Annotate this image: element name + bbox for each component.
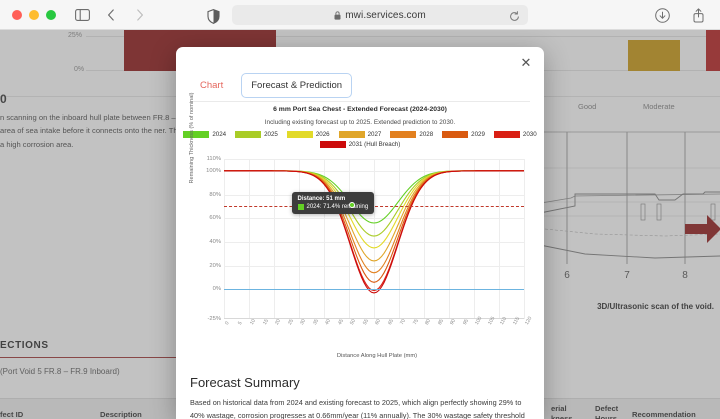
address-bar-url: mwi.services.com	[345, 10, 426, 21]
screenshot-root: mwi.services.com 25% 0% Good Moderate	[0, 0, 720, 419]
forecast-plot: Remaining Thickness (% of nominal)	[190, 157, 530, 372]
minimize-window-button[interactable]	[29, 10, 39, 20]
tabs-divider	[190, 101, 530, 102]
legend-item-2026[interactable]: 2026	[287, 131, 330, 138]
legend-swatch-2030	[494, 131, 520, 138]
forward-arrow-icon[interactable]	[132, 7, 148, 23]
legend-label-2031: 2031 (Hull Breach)	[349, 141, 401, 148]
x-axis-label: Distance Along Hull Plate (mm)	[224, 353, 530, 359]
legend-item-2025[interactable]: 2025	[235, 131, 278, 138]
legend-item-2028[interactable]: 2028	[390, 131, 433, 138]
legend-label-2026: 2026	[316, 131, 330, 138]
legend-item-2029[interactable]: 2029	[442, 131, 485, 138]
close-icon[interactable]: ✕	[518, 55, 534, 71]
forecast-summary: Forecast Summary Based on historical dat…	[190, 375, 530, 419]
tooltip-series-label: 2024: 71.4% remaining	[307, 204, 369, 210]
x-tick-55: 55	[362, 318, 370, 326]
x-tick-95: 95	[462, 318, 470, 326]
legend-swatch-2029	[442, 131, 468, 138]
legend-label-2027: 2027	[368, 131, 382, 138]
curve-2029	[224, 171, 524, 282]
y-tick-80: 80%	[209, 192, 221, 198]
address-bar[interactable]: mwi.services.com	[232, 5, 528, 25]
legend-label-2029: 2029	[471, 131, 485, 138]
maximize-window-button[interactable]	[46, 10, 56, 20]
hover-data-point	[349, 202, 355, 208]
legend-item-2027[interactable]: 2027	[339, 131, 382, 138]
back-arrow-icon[interactable]	[103, 7, 119, 23]
sidebar-toggle-icon[interactable]	[74, 7, 90, 23]
legend-label-2028: 2028	[419, 131, 433, 138]
y-tick-0: 0%	[213, 286, 221, 292]
plot-area[interactable]: Distance: 51 mm 2024: 71.4% remaining 05…	[224, 159, 524, 319]
x-tick-5: 5	[237, 321, 244, 326]
x-tick-0: 0	[224, 321, 231, 326]
legend-swatch-2025	[235, 131, 261, 138]
forecast-summary-body: Based on historical data from 2024 and e…	[190, 396, 530, 419]
curve-2028	[224, 171, 524, 273]
legend-label-2030: 2030	[523, 131, 537, 138]
y-tick-100: 100%	[206, 168, 221, 174]
legend-swatch-2028	[390, 131, 416, 138]
legend-label-2024: 2024	[212, 131, 226, 138]
forecast-modal: ✕ Chart Forecast & Prediction 6 mm Port …	[176, 47, 544, 419]
close-window-button[interactable]	[12, 10, 22, 20]
x-tick-90: 90	[449, 318, 457, 326]
x-tick-25: 25	[287, 318, 295, 326]
legend-item-2030[interactable]: 2030	[494, 131, 537, 138]
legend-swatch-2024	[183, 131, 209, 138]
y-tick--25: -25%	[207, 316, 221, 322]
zero-thickness-line	[224, 289, 524, 290]
privacy-shield-icon[interactable]	[205, 8, 221, 24]
chart-legend: 2024 2025 2026 2027 2028 2029 2030 2031 …	[176, 131, 544, 148]
x-tick-45: 45	[337, 318, 345, 326]
y-tick-110: 110%	[207, 156, 221, 162]
lock-icon	[334, 11, 341, 20]
legend-swatch-2031	[320, 141, 346, 148]
window-controls[interactable]	[12, 10, 56, 20]
x-tick-35: 35	[312, 318, 320, 326]
y-tick-60: 60%	[209, 215, 221, 221]
y-tick-40: 40%	[209, 239, 221, 245]
chart-title: 6 mm Port Sea Chest - Extended Forecast …	[176, 106, 544, 113]
x-tick-50: 50	[349, 318, 357, 326]
legend-row-primary: 2024 2025 2026 2027 2028 2029 2030	[176, 131, 544, 138]
x-tick-75: 75	[412, 318, 420, 326]
legend-label-2025: 2025	[264, 131, 278, 138]
x-tick-20: 20	[274, 318, 282, 326]
browser-toolbar: mwi.services.com	[0, 0, 720, 30]
tab-chart[interactable]: Chart	[190, 73, 233, 98]
tab-forecast-prediction[interactable]: Forecast & Prediction	[241, 73, 352, 98]
chart-tooltip: Distance: 51 mm 2024: 71.4% remaining	[292, 192, 375, 214]
chart-subtitle: Including existing forecast up to 2025. …	[176, 119, 544, 126]
x-tick-80: 80	[424, 318, 432, 326]
share-icon[interactable]	[690, 7, 706, 23]
tooltip-swatch	[298, 204, 304, 210]
x-tick-40: 40	[324, 318, 332, 326]
x-tick-60: 60	[374, 318, 382, 326]
x-tick-30: 30	[299, 318, 307, 326]
gridline-v-12	[524, 159, 525, 319]
download-icon[interactable]	[654, 7, 670, 23]
legend-item-2031[interactable]: 2031 (Hull Breach)	[320, 141, 401, 148]
x-tick-120: 120	[524, 316, 533, 326]
forecast-curves	[224, 159, 524, 319]
legend-swatch-2027	[339, 131, 365, 138]
x-tick-15: 15	[262, 318, 270, 326]
tooltip-series-row: 2024: 71.4% remaining	[298, 204, 369, 210]
x-tick-10: 10	[249, 318, 257, 326]
x-tick-70: 70	[399, 318, 407, 326]
legend-swatch-2026	[287, 131, 313, 138]
modal-tabs: Chart Forecast & Prediction	[190, 73, 352, 98]
y-tick-20: 20%	[209, 263, 221, 269]
tooltip-title: Distance: 51 mm	[298, 196, 369, 202]
forecast-summary-heading: Forecast Summary	[190, 375, 530, 390]
curve-2031	[224, 171, 524, 293]
x-tick-85: 85	[437, 318, 445, 326]
x-tick-65: 65	[387, 318, 395, 326]
reload-icon[interactable]	[509, 9, 520, 27]
y-axis-label: Remaining Thickness (% of nominal)	[189, 83, 195, 193]
legend-row-secondary: 2031 (Hull Breach)	[176, 141, 544, 148]
